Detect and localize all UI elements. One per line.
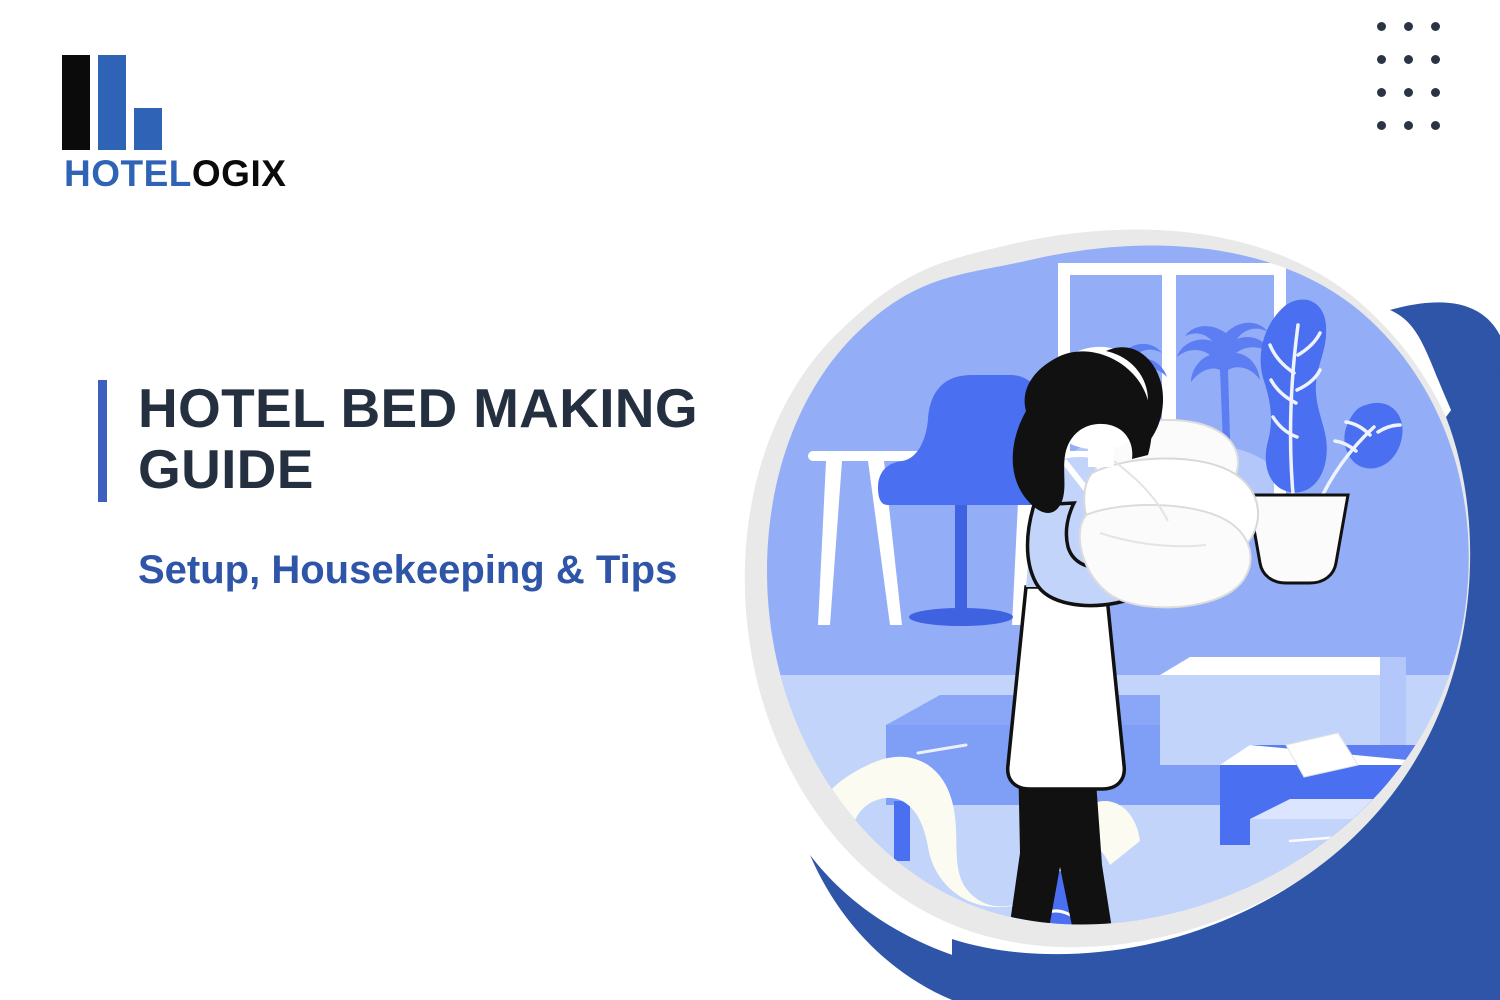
dot	[1404, 55, 1413, 64]
apron	[1008, 587, 1125, 789]
logo-bar-blue-short	[134, 108, 162, 150]
page-subtitle: Setup, Housekeeping & Tips	[138, 544, 698, 597]
hero-illustration	[690, 205, 1500, 1000]
logo-bar-blue-tall	[98, 55, 126, 150]
hero-text-block: HOTEL BED MAKING GUIDE Setup, Housekeepi…	[98, 378, 738, 597]
dot	[1377, 121, 1386, 130]
dot	[1377, 55, 1386, 64]
dot	[1431, 22, 1440, 31]
logo-bar-black	[62, 55, 90, 150]
logo-wordmark: HOTELOGIX	[64, 155, 286, 192]
dot	[1404, 22, 1413, 31]
logo-word-hotel: HOTEL	[64, 153, 192, 194]
dot	[1377, 88, 1386, 97]
dot	[1377, 22, 1386, 31]
dot-grid-icon	[1377, 22, 1458, 154]
brand-logo[interactable]: HOTELOGIX	[62, 55, 282, 195]
accent-bar	[98, 380, 107, 502]
dot	[1431, 88, 1440, 97]
poster-canvas: HOTELOGIX HOTEL BED MAKING GUIDE Setup, …	[0, 0, 1500, 1000]
logo-bars-icon	[62, 55, 177, 150]
logo-word-ogix: OGIX	[192, 153, 287, 194]
dot	[1431, 121, 1440, 130]
dot	[1404, 88, 1413, 97]
page-title: HOTEL BED MAKING GUIDE	[138, 378, 738, 500]
dot	[1404, 121, 1413, 130]
housekeeping-illustration-svg	[690, 205, 1500, 1000]
dot	[1431, 55, 1440, 64]
